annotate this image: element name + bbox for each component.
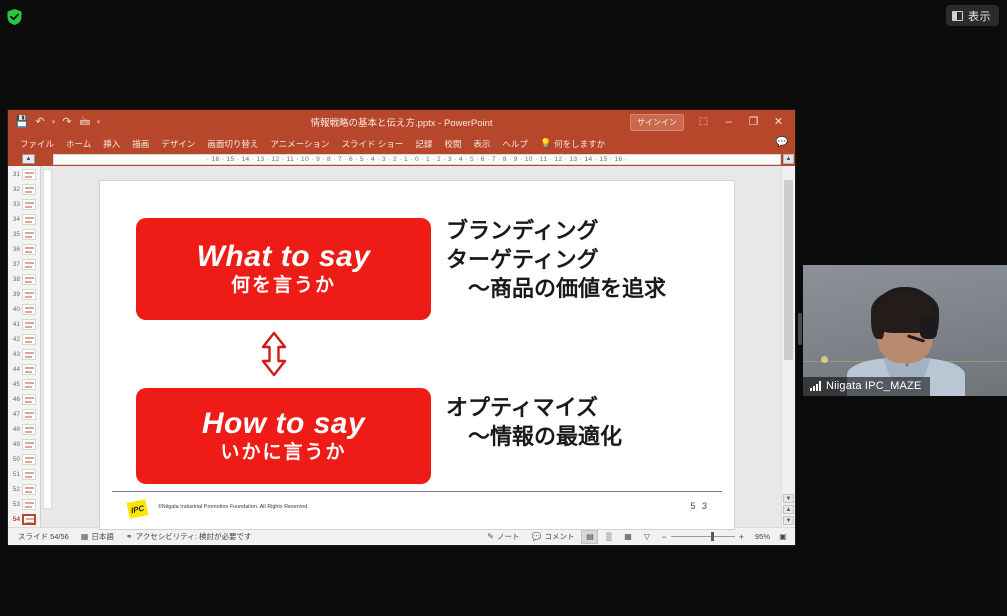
slide-thumbnail-number: 39 <box>9 291 20 298</box>
sign-in-button[interactable]: サインイン <box>630 114 684 131</box>
menu-item-help[interactable]: ヘルプ <box>496 136 534 152</box>
slide-thumbnail-preview <box>22 454 36 465</box>
slide-thumbnail-preview <box>22 259 36 270</box>
zoom-in-icon[interactable]: + <box>739 532 744 542</box>
horizontal-ruler-ticks: · 16 · 15 · 14 · 13 · 12 · 11 · 10 · 9 ·… <box>207 156 628 163</box>
slide-thumbnail-49[interactable]: 49 <box>8 437 40 452</box>
tell-me-label: 何をしますか <box>554 138 605 150</box>
slide-thumbnail-46[interactable]: 46 <box>8 392 40 407</box>
slide-thumbnail-47[interactable]: 47 <box>8 407 40 422</box>
slide-canvas[interactable]: What to say 何を言うか ブランディング ターゲティング 〜商品の価値… <box>53 166 781 527</box>
comments-label: コメント <box>544 531 574 542</box>
slide-thumbnail-33[interactable]: 33 <box>8 197 40 212</box>
customize-qat-icon[interactable]: ▾ <box>95 118 102 126</box>
vertical-ruler[interactable] <box>41 166 53 527</box>
slide-thumbnail-40[interactable]: 40 <box>8 302 40 317</box>
menu-item-view[interactable]: 表示 <box>467 136 496 152</box>
slide-thumbnail-number: 44 <box>9 366 20 373</box>
optimize-text[interactable]: オプティマイズ 〜情報の最適化 <box>446 394 622 452</box>
slide-thumbnail-37[interactable]: 37 <box>8 257 40 272</box>
slide-thumbnail-number: 31 <box>9 171 20 178</box>
start-slideshow-icon[interactable]: 🖮 <box>77 114 93 130</box>
slide-thumbnail-31[interactable]: 31 <box>8 167 40 182</box>
slide-counter[interactable]: スライド 54/56 <box>12 531 75 542</box>
lightbulb-icon: 💡 <box>540 138 551 149</box>
slide-thumbnail-preview <box>22 184 36 195</box>
what-to-say-box[interactable]: What to say 何を言うか <box>136 218 431 320</box>
slide-thumbnail-pane[interactable]: 3132333435363738394041424344454647484950… <box>8 166 41 527</box>
slide-thumbnail-preview <box>22 499 36 510</box>
slide-thumbnail-50[interactable]: 50 <box>8 452 40 467</box>
comments-button[interactable]: 💬 コメント <box>526 531 581 542</box>
slide-thumbnail-number: 51 <box>9 471 20 478</box>
zoom-control[interactable]: − + 95% <box>656 532 775 542</box>
slide-thumbnail-38[interactable]: 38 <box>8 272 40 287</box>
slide-thumbnail-number: 54 <box>9 516 20 523</box>
close-icon[interactable]: ✕ <box>766 110 791 134</box>
slide-thumbnail-51[interactable]: 51 <box>8 467 40 482</box>
slide-thumbnail-preview <box>22 469 36 480</box>
slide-thumbnail-number: 48 <box>9 426 20 433</box>
copyright-text: ©Niigata Industrial Promotion Foundation… <box>158 504 309 510</box>
scrollbar-thumb[interactable] <box>784 180 793 360</box>
undo-icon[interactable]: ↶ <box>32 114 48 130</box>
slide-thumbnail-number: 52 <box>9 486 20 493</box>
scroll-nav-buttons: ▼ ▲ ▼ <box>783 494 794 525</box>
slide-thumbnail-35[interactable]: 35 <box>8 227 40 242</box>
slide-thumbnail-32[interactable]: 32 <box>8 182 40 197</box>
language-icon: ▦ <box>81 532 89 541</box>
slide-thumbnail-number: 38 <box>9 276 20 283</box>
ruler-row: ▲ · 16 · 15 · 14 · 13 · 12 · 11 · 10 · 9… <box>8 153 795 166</box>
slide-thumbnail-preview <box>22 214 36 225</box>
slide-thumbnail-preview <box>22 424 36 435</box>
slide-thumbnail-preview <box>22 364 36 375</box>
headset-earcup-icon <box>920 317 937 339</box>
slide-thumbnail-number: 36 <box>9 246 20 253</box>
language-indicator[interactable]: ▦ 日本語 <box>75 531 120 542</box>
comments-icon: 💬 <box>532 532 542 541</box>
scroll-up-area: ▲ <box>781 153 795 166</box>
slide-thumbnail-preview <box>22 244 36 255</box>
accessibility-label: アクセシビリティ: 検討が必要です <box>136 531 252 542</box>
notes-label: ノート <box>497 531 520 542</box>
slide-thumbnail-number: 33 <box>9 201 20 208</box>
slide-thumbnail-number: 42 <box>9 336 20 343</box>
slide-thumbnail-43[interactable]: 43 <box>8 347 40 362</box>
slide-thumbnail-preview <box>22 379 36 390</box>
tell-me-box[interactable]: 💡 何をしますか <box>534 138 605 150</box>
zoom-slider-knob[interactable] <box>711 532 714 541</box>
zoom-out-icon[interactable]: − <box>661 532 666 542</box>
screen: 表示 💾 ↶ ▾ ↷ 🖮 ▾ 情報戦略の基本と伝え方.pptx - PowerP… <box>0 0 1007 616</box>
slide-thumbnail-41[interactable]: 41 <box>8 317 40 332</box>
slide-thumbnail-preview <box>22 349 36 360</box>
title-bar-controls: サインイン ⬚ – ❐ ✕ <box>630 110 795 134</box>
layout-icon <box>952 11 963 21</box>
footer-divider <box>112 491 722 492</box>
comment-icon[interactable]: 💬 <box>776 138 788 148</box>
slide-surface[interactable]: What to say 何を言うか ブランディング ターゲティング 〜商品の価値… <box>100 181 734 529</box>
slide-thumbnail-42[interactable]: 42 <box>8 332 40 347</box>
menu-item-file[interactable]: ファイル <box>14 136 60 152</box>
slide-thumbnail-preview <box>22 274 36 285</box>
slide-thumbnail-number: 49 <box>9 441 20 448</box>
slide-thumbnail-number: 50 <box>9 456 20 463</box>
minimize-icon[interactable]: – <box>716 110 741 134</box>
slide-thumbnail-53[interactable]: 53 <box>8 497 40 512</box>
notes-button[interactable]: ✎ ノート <box>481 531 525 542</box>
slide-thumbnail-number: 45 <box>9 381 20 388</box>
vertical-ruler-strip <box>43 169 52 509</box>
slide-thumbnail-number: 47 <box>9 411 20 418</box>
slide-thumbnail-number: 34 <box>9 216 20 223</box>
previous-slide-icon[interactable]: ▲ <box>783 505 794 514</box>
menu-item-insert[interactable]: 挿入 <box>97 136 126 152</box>
zoom-percent[interactable]: 95% <box>748 532 770 541</box>
horizontal-ruler[interactable]: · 16 · 15 · 14 · 13 · 12 · 11 · 10 · 9 ·… <box>53 154 781 165</box>
menu-item-transitions[interactable]: 画面切り替え <box>201 136 264 152</box>
slide-thumbnail-preview <box>22 394 36 405</box>
quick-access-toolbar: 💾 ↶ ▾ ↷ 🖮 ▾ <box>8 114 102 130</box>
slide-thumbnail-52[interactable]: 52 <box>8 482 40 497</box>
background-dot <box>821 356 828 363</box>
notes-icon: ✎ <box>487 532 494 541</box>
signal-bars-icon <box>810 381 821 391</box>
slide-thumbnail-number: 32 <box>9 186 20 193</box>
slide-thumbnail-preview <box>22 169 36 180</box>
menu-item-animations[interactable]: アニメーション <box>264 136 335 152</box>
participant-name-badge: Niigata IPC_MAZE <box>803 377 930 396</box>
slide-footer: IPC ©Niigata Industrial Promotion Founda… <box>100 491 734 529</box>
slide-thumbnail-preview <box>22 229 36 240</box>
restore-icon[interactable]: ❐ <box>741 110 766 134</box>
collapse-thumbnails-icon[interactable]: ▲ <box>22 154 35 164</box>
accessibility-status[interactable]: ⚭ アクセシビリティ: 検討が必要です <box>120 531 258 542</box>
slide-thumbnail-preview <box>22 304 36 315</box>
slide-thumbnail-preview <box>22 289 36 300</box>
undo-dropdown-icon[interactable]: ▾ <box>50 118 57 126</box>
menu-item-draw[interactable]: 描画 <box>126 136 155 152</box>
double-arrow-vertical-icon[interactable] <box>256 331 292 377</box>
fit-to-window-icon[interactable]: ▣ <box>775 530 791 544</box>
powerpoint-window: 💾 ↶ ▾ ↷ 🖮 ▾ 情報戦略の基本と伝え方.pptx - PowerPoin… <box>8 110 795 545</box>
editor-body: 3132333435363738394041424344454647484950… <box>8 166 795 527</box>
next-slide-icon[interactable]: ▼ <box>783 516 794 525</box>
slide-thumbnail-39[interactable]: 39 <box>8 287 40 302</box>
scroll-down-icon[interactable]: ▼ <box>783 494 794 503</box>
video-panel-drag-handle[interactable] <box>798 313 802 345</box>
slide-thumbnail-44[interactable]: 44 <box>8 362 40 377</box>
slide-thumbnail-preview <box>22 514 36 525</box>
slide-thumbnail-preview <box>22 439 36 450</box>
slide-thumbnail-36[interactable]: 36 <box>8 242 40 257</box>
ribbon-display-options-icon[interactable]: ⬚ <box>691 110 716 134</box>
slide-thumbnail-number: 43 <box>9 351 20 358</box>
slide-thumbnail-54[interactable]: 54 <box>8 512 40 527</box>
slide-thumbnail-number: 46 <box>9 396 20 403</box>
shield-check-icon <box>6 8 23 26</box>
meeting-view-button[interactable]: 表示 <box>946 5 999 26</box>
ipc-logo: IPC <box>127 499 149 519</box>
vertical-scrollbar[interactable]: ▼ ▲ ▼ <box>781 166 795 527</box>
what-to-say-english: What to say <box>197 241 371 273</box>
menu-bar: ファイル ホーム 挿入 描画 デザイン 画面切り替え アニメーション スライド … <box>8 134 795 153</box>
branding-targeting-text[interactable]: ブランディング ターゲティング 〜商品の価値を追求 <box>446 217 666 304</box>
slide-thumbnail-preview <box>22 409 36 420</box>
slide-thumbnail-number: 37 <box>9 261 20 268</box>
language-label: 日本語 <box>91 531 114 542</box>
zoom-slider[interactable] <box>671 536 735 537</box>
accessibility-icon: ⚭ <box>126 532 133 541</box>
slide-thumbnail-preview <box>22 334 36 345</box>
slide-sorter-button[interactable]: ▒ <box>600 530 617 544</box>
redo-icon[interactable]: ↷ <box>59 114 75 130</box>
menu-item-home[interactable]: ホーム <box>60 136 97 152</box>
menu-item-design[interactable]: デザイン <box>155 136 201 152</box>
slide-thumbnail-preview <box>22 319 36 330</box>
menu-item-record[interactable]: 記録 <box>409 136 438 152</box>
slide-thumbnail-number: 40 <box>9 306 20 313</box>
meeting-view-label: 表示 <box>968 8 991 24</box>
scroll-up-icon[interactable]: ▲ <box>783 154 794 164</box>
slide-thumbnail-34[interactable]: 34 <box>8 212 40 227</box>
participant-name: Niigata IPC_MAZE <box>826 380 922 392</box>
title-bar: 💾 ↶ ▾ ↷ 🖮 ▾ 情報戦略の基本と伝え方.pptx - PowerPoin… <box>8 110 795 134</box>
slide-thumbnail-number: 41 <box>9 321 20 328</box>
what-to-say-japanese: 何を言うか <box>231 274 336 297</box>
how-to-say-box[interactable]: How to say いかに言うか <box>136 388 431 484</box>
menu-item-review[interactable]: 校閲 <box>438 136 467 152</box>
how-to-say-english: How to say <box>202 408 365 440</box>
reading-view-button[interactable]: ▦ <box>619 530 636 544</box>
normal-view-button[interactable]: ▤ <box>581 530 598 544</box>
slideshow-button[interactable]: ▽ <box>638 530 655 544</box>
slide-thumbnail-48[interactable]: 48 <box>8 422 40 437</box>
how-to-say-japanese: いかに言うか <box>220 441 346 464</box>
slide-thumbnail-preview <box>22 484 36 495</box>
slide-page-number: 5 3 <box>690 501 709 511</box>
slide-thumbnail-45[interactable]: 45 <box>8 377 40 392</box>
participant-video-tile[interactable]: Niigata IPC_MAZE <box>803 265 1007 396</box>
slide-thumbnail-number: 35 <box>9 231 20 238</box>
thumbnail-pane-header: ▲ <box>8 153 53 166</box>
slide-thumbnail-number: 53 <box>9 501 20 508</box>
slide-thumbnail-preview <box>22 199 36 210</box>
menu-item-slideshow[interactable]: スライド ショー <box>336 136 410 152</box>
save-icon[interactable]: 💾 <box>14 114 30 130</box>
status-bar: スライド 54/56 ▦ 日本語 ⚭ アクセシビリティ: 検討が必要です ✎ ノ… <box>8 527 795 545</box>
